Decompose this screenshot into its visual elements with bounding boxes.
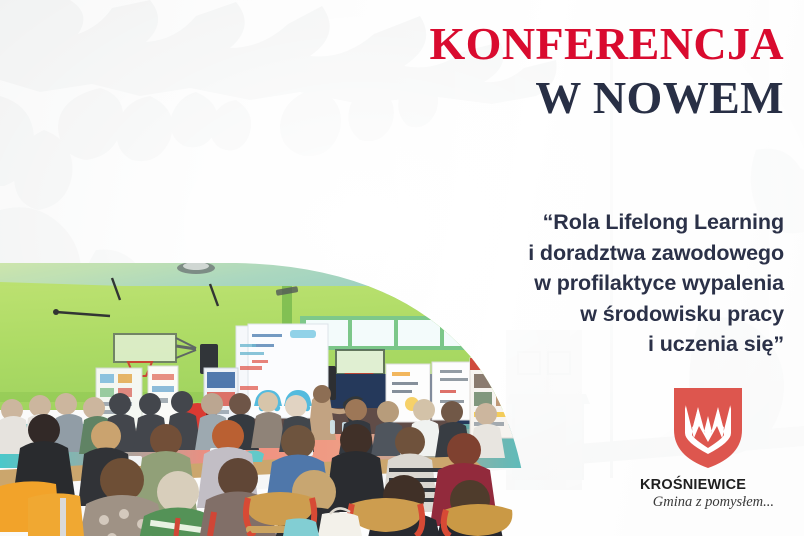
logo-municipality-name: KROŚNIEWICE	[620, 477, 796, 493]
logo-tagline: Gmina z pomysłem...	[620, 494, 796, 511]
shield-icon	[672, 386, 744, 470]
municipality-logo: KROŚNIEWICE Gmina z pomysłem...	[620, 386, 796, 522]
conference-poster: KONFERENCJA W NOWEM “Rola Lifelong Learn…	[0, 0, 804, 536]
conference-photo	[0, 0, 560, 536]
